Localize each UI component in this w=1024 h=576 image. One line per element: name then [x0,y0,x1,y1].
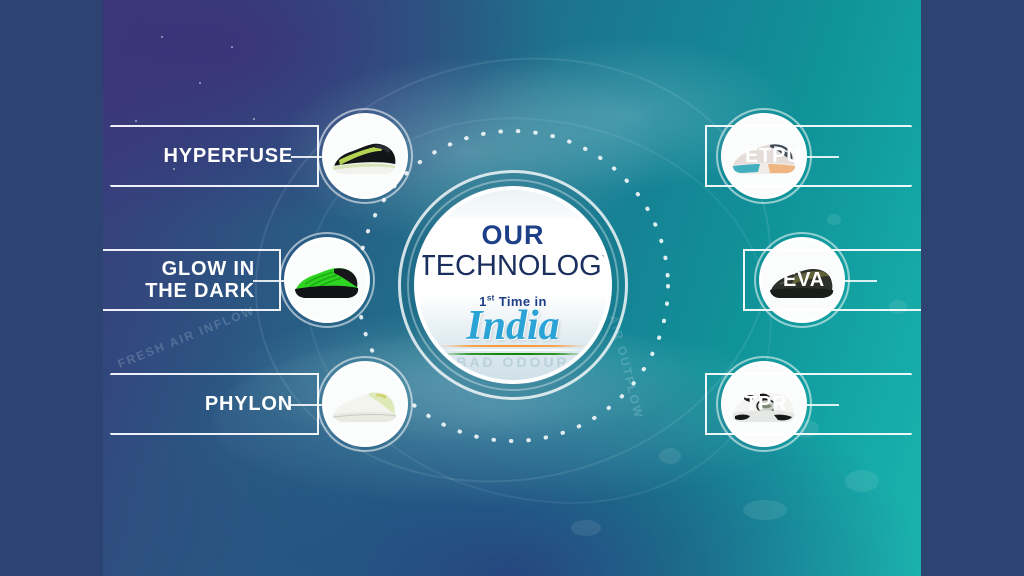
shoe-hyperfuse-icon [331,136,399,178]
banner-glow-in-the-dark[interactable]: GLOW IN THE DARK [103,249,281,311]
bubble-decoration [571,520,601,536]
shoe-phylon-icon [331,384,399,426]
banner-eva-label: EVA [783,269,825,291]
bubble-decoration [827,214,841,225]
badge-ghost-text: BAD ODOUR [418,354,608,370]
banner-tpr-label: TPR [745,393,787,415]
shoe-glow-icon [293,260,361,302]
sparkle-decoration [199,82,201,84]
banner-hyperfuse-label: HYPERFUSE [164,145,293,167]
poster-frame: FRESH AIR INFLOW AIR OUTFLOW OUR TECHNOL… [0,0,1024,576]
bubble-decoration [659,448,681,464]
poster-canvas: FRESH AIR INFLOW AIR OUTFLOW OUR TECHNOL… [103,0,921,576]
banner-etpu-label: ETPU [745,145,802,167]
banner-etpu[interactable]: ETPU [705,125,921,187]
center-emblem: OUR TECHNOLOGY 1st Time in India BAD ODO… [398,170,628,400]
center-title-technology: TECHNOLOGY [418,250,608,283]
node-rim [322,361,408,447]
banner-tpr[interactable]: TPR [705,373,921,435]
center-title-our: OUR [418,220,608,251]
node-rim [284,237,370,323]
banner-glow-label: GLOW IN THE DARK [145,258,255,303]
node-rim [322,113,408,199]
sparkle-decoration [231,46,233,48]
node-glow-in-the-dark[interactable] [279,232,375,328]
sparkle-decoration [253,118,255,120]
banner-phylon-label: PHYLON [205,393,293,415]
badge-india-text: India [418,302,608,350]
bubble-decoration [845,470,879,492]
first-time-in-india-badge: 1st Time in India BAD ODOUR [418,294,608,370]
center-ring-inner: OUR TECHNOLOGY 1st Time in India BAD ODO… [414,186,612,384]
node-hyperfuse[interactable] [317,108,413,204]
node-phylon[interactable] [317,356,413,452]
banner-eva[interactable]: EVA [743,249,921,311]
sparkle-decoration [135,120,137,122]
banner-hyperfuse[interactable]: HYPERFUSE [103,125,319,187]
bubble-decoration [743,500,787,520]
banner-phylon[interactable]: PHYLON [103,373,319,435]
watermark-fresh-air-inflow: FRESH AIR INFLOW [116,303,257,371]
sparkle-decoration [161,36,163,38]
